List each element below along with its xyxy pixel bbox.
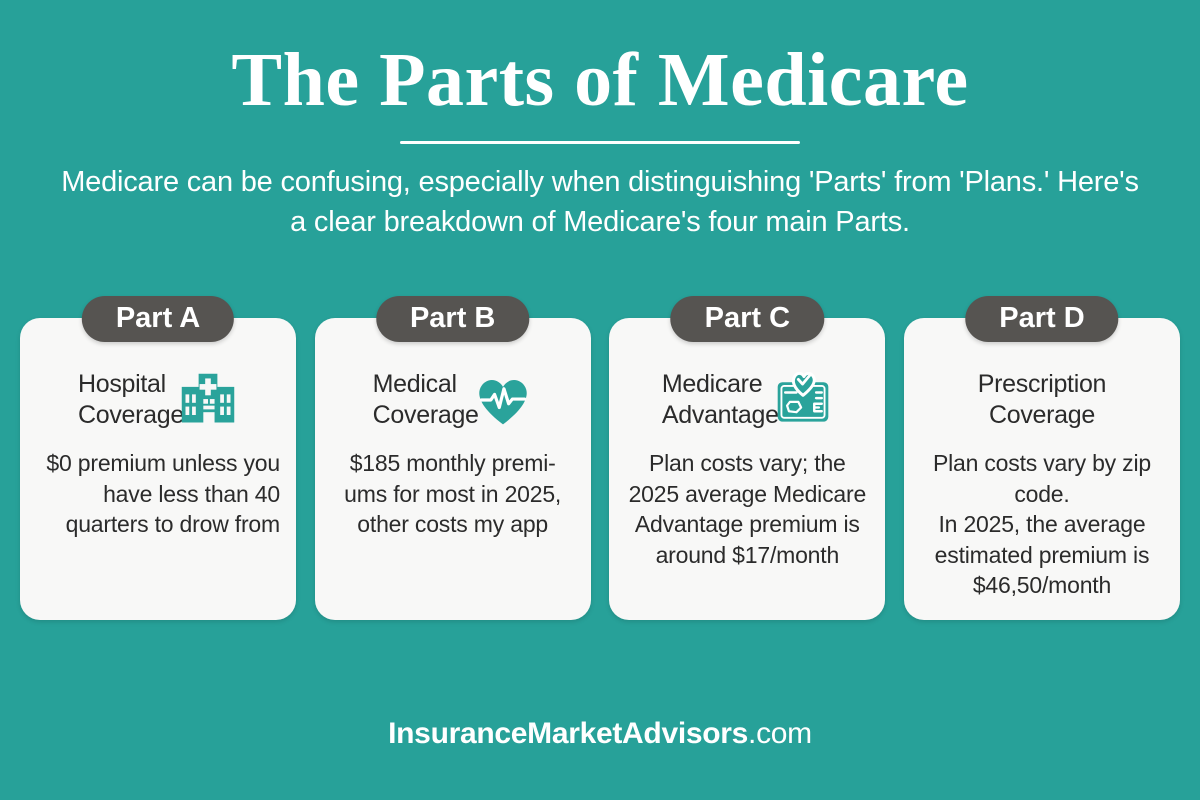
card-c-header: Medicare Advantage <box>609 364 885 436</box>
card-a-body: $0 premium unless you have less than 40 … <box>36 448 280 540</box>
card-a-header: Hospital Coverage <box>20 364 296 436</box>
subtitle: Medicare can be confusing, especially wh… <box>60 162 1140 242</box>
card-d-heading: Prescription Coverage <box>978 369 1106 431</box>
card-c-body: Plan costs vary; the 2025 average Medica… <box>625 448 869 570</box>
card-b-heading: Medical Coverage <box>373 369 479 431</box>
card-b-body: $185 monthly premi-ums for most in 2025,… <box>331 448 575 540</box>
footer-tld: .com <box>748 717 812 750</box>
hospital-icon <box>178 370 238 430</box>
footer-brand: InsuranceMarketAdvisors <box>388 717 748 750</box>
heartbeat-icon <box>473 370 533 430</box>
cards-row: Part A Hospital Coverage <box>20 318 1180 620</box>
badge-part-b: Part B <box>376 296 529 342</box>
insurance-card-icon <box>773 370 833 430</box>
footer-website[interactable]: InsuranceMarketAdvisors.com <box>388 717 812 751</box>
badge-part-c: Part C <box>671 296 824 342</box>
card-part-c[interactable]: Part C Medicare Advantage Plan costs var… <box>609 318 885 620</box>
card-c-heading: Medicare Advantage <box>662 369 779 431</box>
badge-part-d: Part D <box>965 296 1118 342</box>
card-a-heading: Hospital Coverage <box>78 369 184 431</box>
card-b-header: Medical Coverage <box>315 364 591 436</box>
badge-part-a: Part A <box>82 296 234 342</box>
footer: InsuranceMarketAdvisors.com <box>0 668 1200 800</box>
title-divider <box>400 141 800 144</box>
page-title: The Parts of Medicare <box>0 0 1200 118</box>
infographic-poster: The Parts of Medicare Medicare can be co… <box>0 0 1200 800</box>
card-part-b[interactable]: Part B Medical Coverage $185 monthly pre… <box>315 318 591 620</box>
card-part-a[interactable]: Part A Hospital Coverage <box>20 318 296 620</box>
card-part-d[interactable]: Part D Prescription Coverage Plan costs … <box>904 318 1180 620</box>
card-d-body: Plan costs vary by zip code. In 2025, th… <box>920 448 1164 601</box>
header: The Parts of Medicare Medicare can be co… <box>0 0 1200 242</box>
card-d-header: Prescription Coverage <box>904 364 1180 436</box>
